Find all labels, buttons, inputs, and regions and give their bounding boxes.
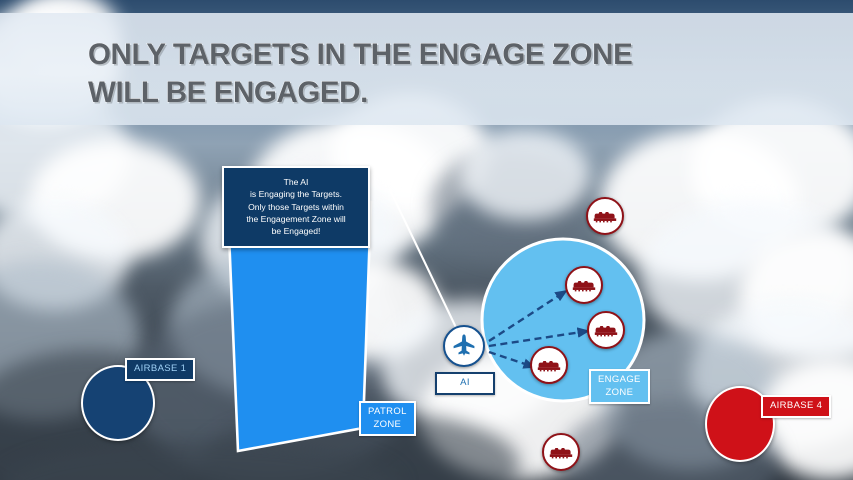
target-5-marker[interactable] xyxy=(542,433,580,471)
callout-line-2: is Engaging the Targets. xyxy=(230,188,362,200)
armored-vehicle-icon xyxy=(594,322,618,338)
slide-canvas: ONLY TARGETS IN THE ENGAGE ZONE WILL BE … xyxy=(0,0,853,480)
tooltip-leader-line xyxy=(390,190,462,340)
target-2-marker[interactable] xyxy=(565,266,603,304)
airbase-1-label-text: AIRBASE 1 xyxy=(134,363,186,374)
patrol-zone-label[interactable]: PATROL ZONE xyxy=(359,401,416,436)
ai-status-callout: The AI is Engaging the Targets. Only tho… xyxy=(222,166,370,248)
target-3-marker[interactable] xyxy=(587,311,625,349)
engage-zone-label-line-1: ENGAGE xyxy=(598,374,641,385)
armored-vehicle-icon xyxy=(593,208,617,224)
ai-label[interactable]: AI xyxy=(435,372,495,395)
airbase-1-label[interactable]: AIRBASE 1 xyxy=(125,358,195,381)
ai-label-text: AI xyxy=(460,377,470,388)
armored-vehicle-icon xyxy=(572,277,596,293)
callout-line-1: The AI xyxy=(230,176,362,188)
ai-aircraft-marker[interactable] xyxy=(443,325,485,367)
airbase-4-label-text: AIRBASE 4 xyxy=(770,400,822,411)
armored-vehicle-icon xyxy=(549,444,573,460)
fighter-jet-icon xyxy=(451,333,477,359)
callout-line-3: Only those Targets within xyxy=(230,201,362,213)
callout-line-4: the Engagement Zone will xyxy=(230,213,362,225)
patrol-zone-label-line-1: PATROL xyxy=(368,406,407,417)
patrol-zone-label-line-2: ZONE xyxy=(373,419,401,430)
engage-zone-label[interactable]: ENGAGE ZONE xyxy=(589,369,650,404)
callout-line-5: be Engaged! xyxy=(230,225,362,237)
engage-zone-label-line-2: ZONE xyxy=(605,387,633,398)
target-1-marker[interactable] xyxy=(586,197,624,235)
diagram-layer: The AI is Engaging the Targets. Only tho… xyxy=(0,0,853,480)
target-4-marker[interactable] xyxy=(530,346,568,384)
airbase-4-label[interactable]: AIRBASE 4 xyxy=(761,395,831,418)
armored-vehicle-icon xyxy=(537,357,561,373)
